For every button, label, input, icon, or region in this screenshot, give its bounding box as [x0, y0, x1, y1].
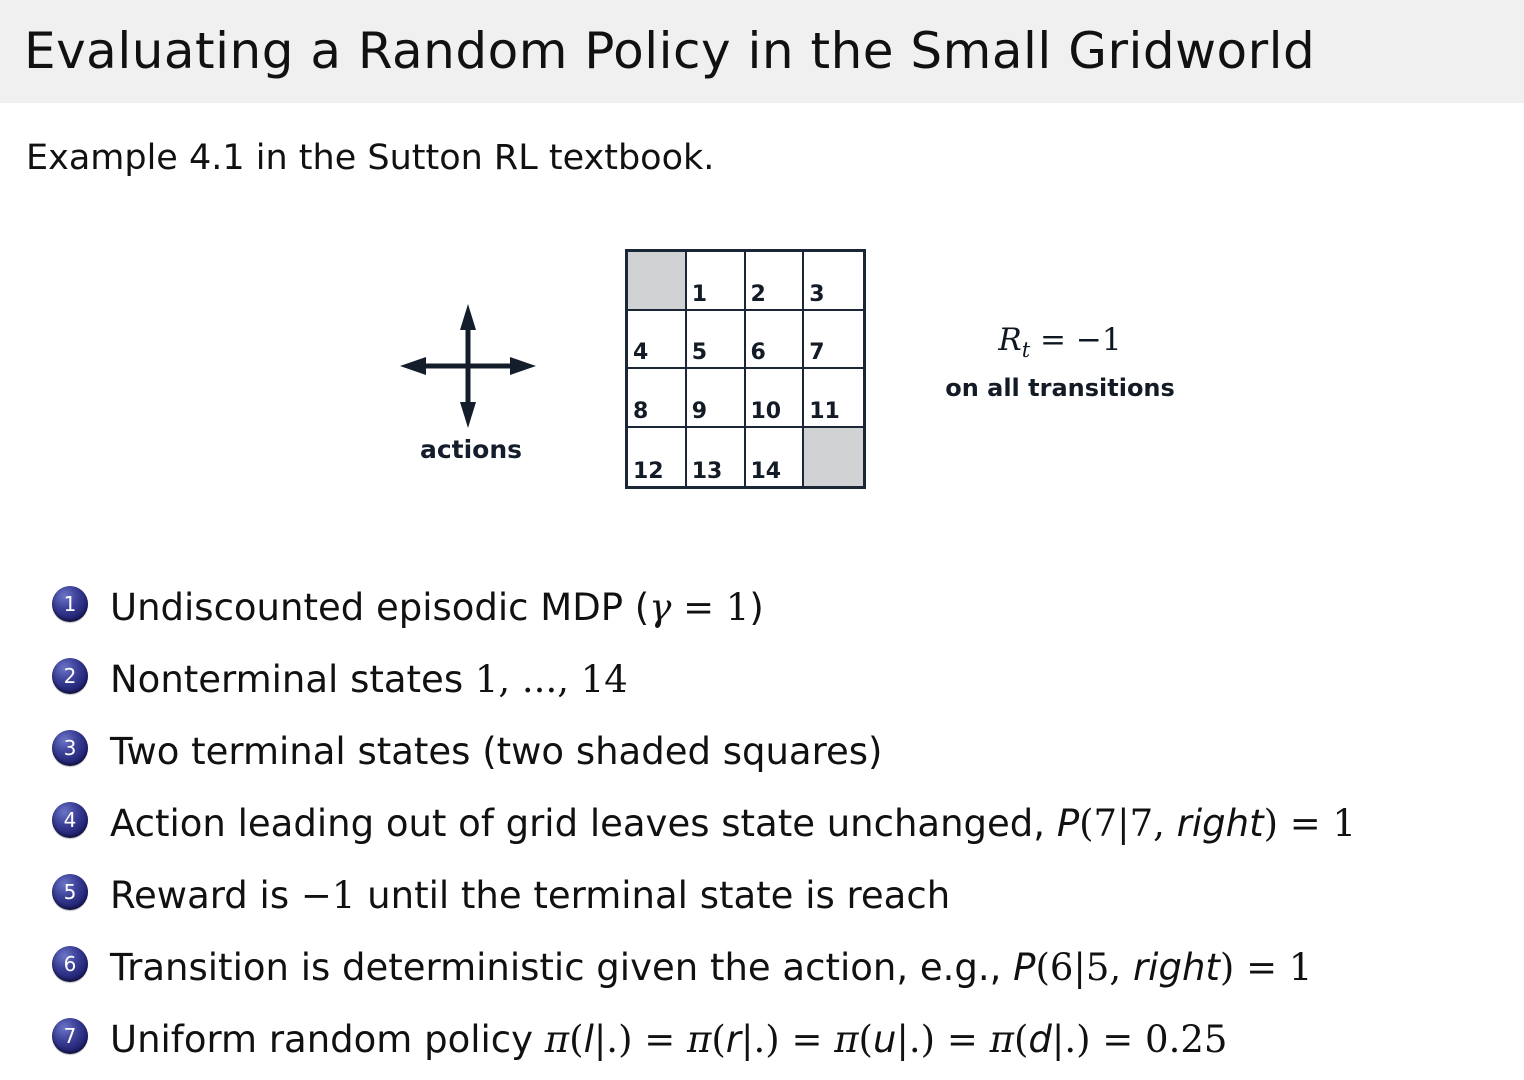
- grid-cell-label: 14: [751, 460, 782, 484]
- grid-cell: 10: [746, 369, 805, 428]
- reward-formula: Rt = −1: [930, 320, 1190, 370]
- actions-label: actions: [396, 435, 546, 464]
- gridworld-grid: 1234567891011121314: [625, 249, 866, 489]
- bullet-text: Uniform random policy π(l|.) = π(r|.) = …: [110, 1005, 1227, 1075]
- bullet-text: Transition is deterministic given the ac…: [110, 933, 1312, 1003]
- list-item: 2Nonterminal states 1, ..., 14: [52, 645, 1512, 717]
- grid-cell: 14: [746, 428, 805, 487]
- bullet-number-badge: 6: [52, 946, 88, 982]
- reward-symbol: R: [998, 322, 1021, 358]
- grid-cell: 11: [804, 369, 863, 428]
- grid-cell: 7: [804, 311, 863, 370]
- grid-cell-terminal: [804, 428, 863, 487]
- grid-cell: 2: [746, 252, 805, 311]
- actions-diagram: actions: [398, 300, 558, 485]
- grid-cell: 1: [687, 252, 746, 311]
- bullet-number-badge: 4: [52, 802, 88, 838]
- grid-cell: 5: [687, 311, 746, 370]
- grid-cell-label: 13: [692, 460, 723, 484]
- grid-cell-label: 9: [692, 400, 707, 424]
- four-way-arrow-icon: [398, 300, 538, 430]
- gridworld-figure: actions 1234567891011121314 Rt = −1 on a…: [0, 230, 1524, 510]
- reward-subtext: on all transitions: [930, 372, 1190, 404]
- list-item: 1Undiscounted episodic MDP (γ = 1): [52, 573, 1512, 645]
- bullet-list: 1Undiscounted episodic MDP (γ = 1)2Nonte…: [52, 573, 1512, 1077]
- grid-cell-label: 8: [633, 400, 648, 424]
- bullet-number-badge: 7: [52, 1018, 88, 1054]
- grid-cell: 6: [746, 311, 805, 370]
- grid-cell-label: 5: [692, 341, 707, 365]
- list-item: 3Two terminal states (two shaded squares…: [52, 717, 1512, 789]
- grid-cell-label: 11: [809, 400, 840, 424]
- grid-cell-label: 2: [751, 283, 766, 307]
- grid-cell-label: 10: [751, 400, 782, 424]
- grid-cell: 13: [687, 428, 746, 487]
- bullet-number-badge: 2: [52, 658, 88, 694]
- grid-cell-label: 4: [633, 341, 648, 365]
- grid-cell-terminal: [628, 252, 687, 311]
- bullet-number-badge: 3: [52, 730, 88, 766]
- list-item: 7Uniform random policy π(l|.) = π(r|.) =…: [52, 1005, 1512, 1077]
- bullet-number-badge: 5: [52, 874, 88, 910]
- list-item: 4Action leading out of grid leaves state…: [52, 789, 1512, 861]
- bullet-text: Two terminal states (two shaded squares): [110, 717, 882, 787]
- grid-cell: 4: [628, 311, 687, 370]
- bullet-text: Undiscounted episodic MDP (γ = 1): [110, 573, 764, 643]
- grid-cell: 3: [804, 252, 863, 311]
- subtitle-text: Example 4.1 in the Sutton RL textbook.: [26, 134, 714, 182]
- bullet-text: Action leading out of grid leaves state …: [110, 789, 1356, 859]
- grid-cell: 9: [687, 369, 746, 428]
- bullet-number-badge: 1: [52, 586, 88, 622]
- bullet-text: Reward is −1 until the terminal state is…: [110, 861, 950, 931]
- grid-cell-label: 3: [809, 283, 824, 307]
- reward-note: Rt = −1 on all transitions: [930, 320, 1190, 404]
- bullet-text: Nonterminal states 1, ..., 14: [110, 645, 628, 715]
- list-item: 5Reward is −1 until the terminal state i…: [52, 861, 1512, 933]
- page-title: Evaluating a Random Policy in the Small …: [24, 17, 1315, 85]
- reward-equals: = −1: [1030, 322, 1121, 358]
- reward-subscript: t: [1022, 338, 1030, 362]
- grid-cell: 12: [628, 428, 687, 487]
- grid-cell-label: 6: [751, 341, 766, 365]
- grid-cell-label: 7: [809, 341, 824, 365]
- grid-cell: 8: [628, 369, 687, 428]
- list-item: 6Transition is deterministic given the a…: [52, 933, 1512, 1005]
- grid-cell-label: 12: [633, 460, 664, 484]
- grid-cell-label: 1: [692, 283, 707, 307]
